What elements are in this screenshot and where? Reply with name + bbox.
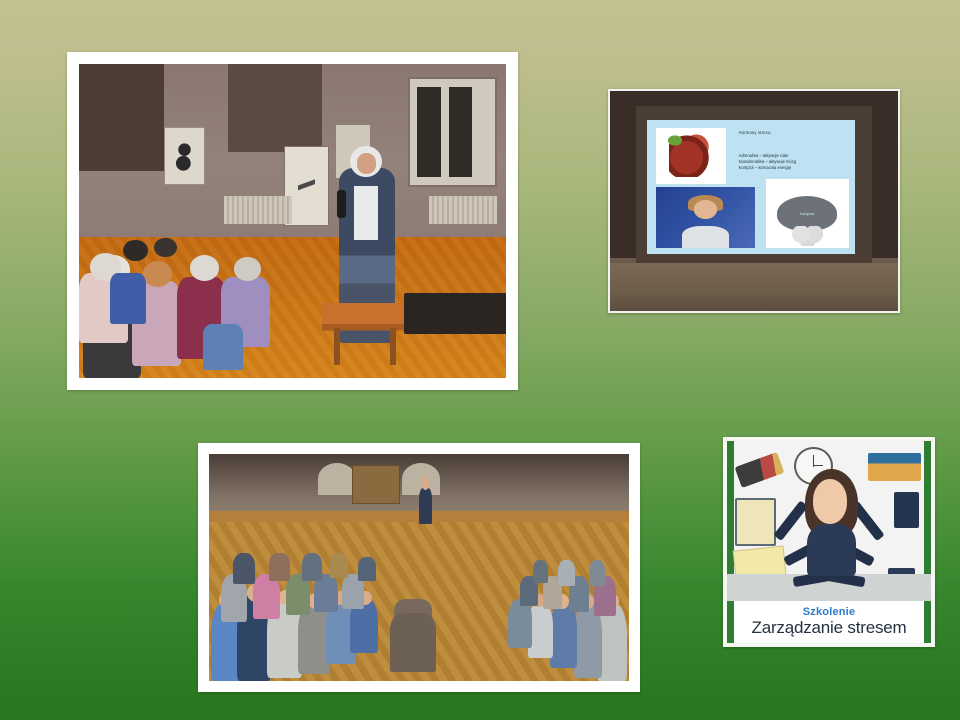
projected-slide-content: Hormony stresu: Adrenalina – aktywuje ci… xyxy=(647,120,854,254)
speaker-shirt xyxy=(354,186,377,239)
clipboard-icon xyxy=(735,498,776,546)
slide-heading: Hormony stresu: xyxy=(739,130,772,135)
photo-training-poster: Szkolenie Zarządzanie stresem xyxy=(723,437,935,647)
slide-image-pomegranate xyxy=(656,128,727,184)
photo-lecture-speaker-image xyxy=(79,64,506,378)
photo-projected-slide: Hormony stresu: Adrenalina – aktywuje ci… xyxy=(608,89,900,313)
lecture-artwork-left xyxy=(164,127,204,186)
slide-image-cortisol: kortyzol xyxy=(766,179,849,249)
lecture-wall-panel-center xyxy=(228,64,322,152)
photo-lecture-speaker xyxy=(67,52,518,390)
poster-woman-face xyxy=(813,479,848,523)
photo-audience-hall xyxy=(198,443,640,692)
hall-arch-left xyxy=(318,463,356,495)
phone-icon xyxy=(894,492,918,528)
poster-woman-torso xyxy=(807,524,856,577)
poster-caption-title: Zarządzanie stresem xyxy=(752,618,907,638)
presentation-slide: Hormony stresu: Adrenalina – aktywuje ci… xyxy=(0,0,960,720)
speaker-face xyxy=(357,153,377,173)
lecture-wall-panel-left xyxy=(79,64,164,171)
photo-projected-slide-image: Hormony stresu: Adrenalina – aktywuje ci… xyxy=(610,91,898,311)
poster-stripe-left xyxy=(727,441,734,643)
lecture-window xyxy=(408,77,497,188)
books-icon xyxy=(868,453,921,481)
lecture-audience-group xyxy=(79,183,301,378)
stressed-woman-body xyxy=(682,226,730,248)
hall-empty-chair-front xyxy=(390,613,436,672)
hall-standing-person xyxy=(419,488,432,524)
slide-hormone-list: Adrenalina – aktywuje ciało Noradrenalin… xyxy=(739,153,796,171)
hall-door xyxy=(352,465,400,503)
laptop xyxy=(404,293,506,334)
microphone xyxy=(337,190,346,218)
photo-training-poster-image: Szkolenie Zarządzanie stresem xyxy=(727,441,931,643)
stressed-woman-face xyxy=(694,200,718,219)
photo-audience-hall-image xyxy=(209,454,629,681)
poster-caption-kicker: Szkolenie xyxy=(803,606,856,618)
hall-audience-left-block xyxy=(209,508,411,681)
pomegranate-leaf-icon xyxy=(666,134,684,146)
cortisol-cell-cluster xyxy=(791,226,824,246)
projection-stage-floor xyxy=(610,263,898,311)
cortisol-brain-label: kortyzol xyxy=(800,211,814,216)
poster-caption: Szkolenie Zarządzanie stresem xyxy=(734,601,924,643)
poster-stripe-right xyxy=(924,441,931,643)
lecture-radiator-right xyxy=(429,196,497,224)
slide-image-stressed-woman xyxy=(656,187,756,249)
hall-audience-right-block xyxy=(461,518,629,681)
